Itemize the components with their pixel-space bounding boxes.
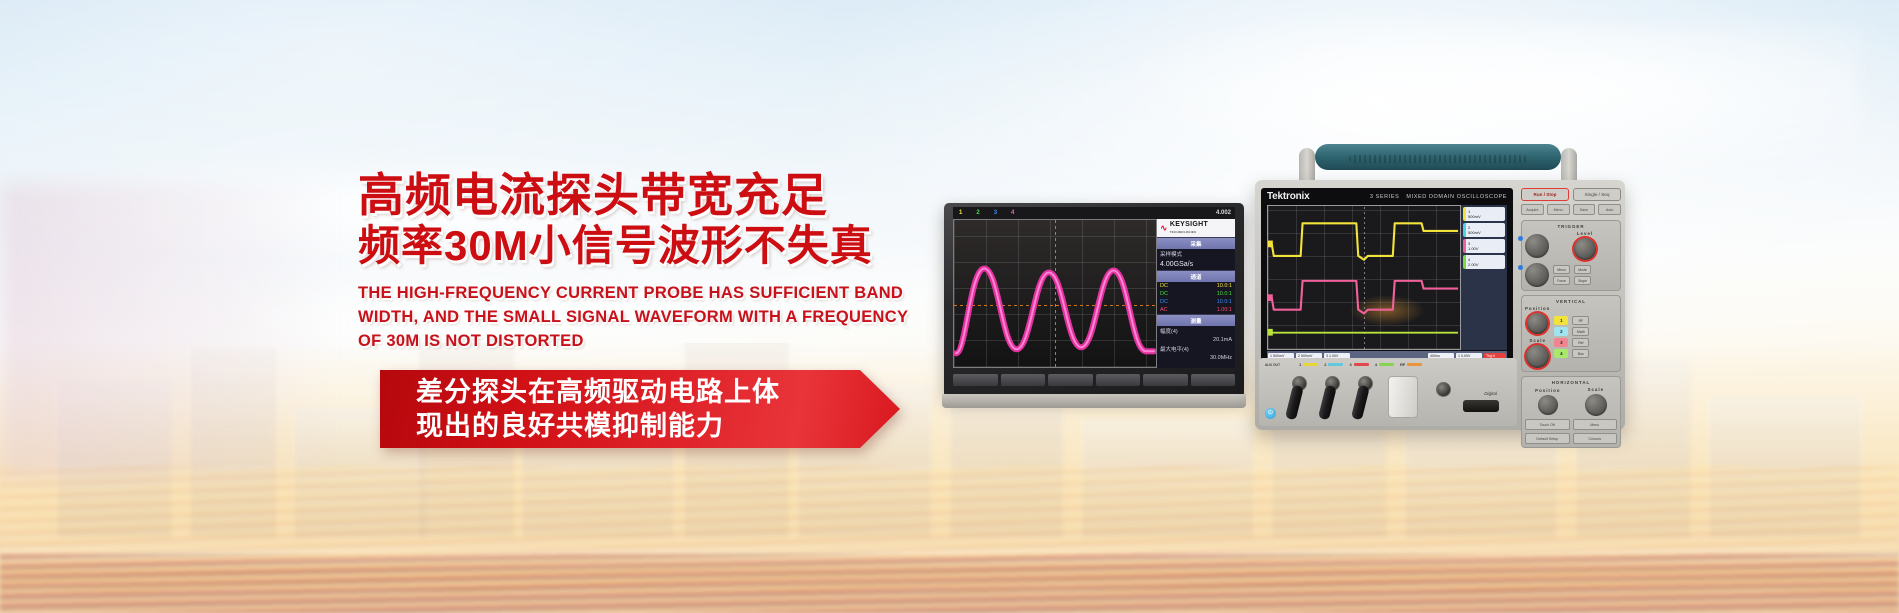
touch-off-button[interactable]: Touch Off (1525, 419, 1570, 430)
keysight-channel-header: 通道 (1157, 270, 1235, 282)
keysight-frequency-row: 30.0MHz (1157, 354, 1235, 362)
headline-line-2: 频率30M小信号波形不失真 (358, 225, 978, 268)
vertical-position-label: Position (1525, 306, 1550, 311)
trigger-button-row: Menu Force Mode Slope (1525, 263, 1617, 287)
save-button[interactable]: Save (1573, 204, 1596, 215)
keysight-measure-row: 20.1mA (1157, 336, 1235, 344)
attached-probe-body (1388, 376, 1418, 418)
trigger-panel-row: Level (1525, 231, 1617, 260)
menu-button[interactable]: Menu (1547, 204, 1570, 215)
vertical-panel-row: Position Scale 1 2 3 4 RF (1525, 306, 1617, 368)
keysight-channel-row: DC 10.0:1 (1157, 298, 1235, 306)
acquire-button[interactable]: Acquire (1521, 204, 1544, 215)
connector-label-rf: RF (1400, 362, 1422, 367)
trigger-aux-buttons: Menu Force (1553, 265, 1570, 285)
aux-button-column: RF Math Ref Bus (1572, 316, 1589, 358)
keysight-channel-row: DC 10.0:1 (1157, 282, 1235, 290)
channel-4-button[interactable]: 4 (1554, 349, 1568, 358)
keysight-channel-2-label: 2 (976, 210, 979, 216)
trigger-level-label: Level (1553, 231, 1617, 236)
channel-1-color-bar (1303, 363, 1318, 366)
connector-label-1: 1 (1299, 362, 1318, 367)
conn-3-text: 3 (1349, 362, 1351, 367)
tektronix-oscilloscope: Tektronix 3 SERIES MIXED DOMAIN OSCILLOS… (1255, 140, 1625, 430)
tektronix-waveform-grid (1267, 205, 1461, 350)
vertical-scale-knob[interactable] (1526, 345, 1549, 368)
tektronix-chassis: Tektronix 3 SERIES MIXED DOMAIN OSCILLOS… (1255, 180, 1625, 430)
keysight-waveform-grid (953, 219, 1157, 368)
keysight-acquire-header: 采集 (1157, 237, 1235, 249)
ribbon-line-2: 现出的良好共模抑制能力 (416, 409, 900, 443)
ribbon-text-block: 差分探头在高频驱动电路上体 现出的良好共模抑制能力 (380, 370, 900, 448)
horizontal-panel-title: HORIZONTAL (1525, 380, 1617, 385)
horizontal-position-label: Position (1535, 388, 1560, 393)
probe-cable-2 (1318, 385, 1337, 421)
keysight-top-value: 4.002 (1216, 210, 1235, 216)
tektronix-series: 3 SERIES (1370, 194, 1400, 200)
connector-label-4: 4 (1375, 362, 1394, 367)
tektronix-model-text: 3 SERIES MIXED DOMAIN OSCILLOSCOPE (1370, 194, 1507, 200)
keysight-ch3-ratio: 10.0:1 (1217, 299, 1232, 305)
tektronix-side-button[interactable]: 4 2.00V (1463, 255, 1505, 269)
keysight-ch1-coupling: DC (1160, 283, 1168, 289)
keysight-oscilloscope: 1 2 3 4 4.002 ∿ KEYSIGHT TECHNO (944, 203, 1244, 398)
keysight-ch4-coupling: AC (1160, 307, 1168, 313)
keysight-logo-subtext: TECHNOLOGIES (1170, 230, 1196, 234)
side-btn-1-l2: 500mV (1468, 214, 1505, 219)
blue-indicator-dot (1518, 265, 1523, 270)
tektronix-control-panel: Run / Stop Single / Seq Acquire Menu Sav… (1521, 188, 1621, 424)
keysight-channel-row: DC 10.0:1 (1157, 290, 1235, 298)
keysight-ch4-ratio: 1.00:1 (1217, 307, 1232, 313)
keysight-channel-4-label: 4 (1011, 210, 1014, 216)
keysight-channel-row: AC 1.00:1 (1157, 306, 1235, 314)
keysight-softkey[interactable] (1191, 374, 1236, 386)
trigger-aux-knob[interactable] (1525, 234, 1549, 258)
keysight-acq-mode-row: 采样模式 (1157, 249, 1235, 259)
keysight-measure-row: 幅度(4) (1157, 326, 1235, 336)
trigger-level-knob[interactable] (1574, 238, 1596, 260)
promo-banner: 高频电流探头带宽充足 频率30M小信号波形不失真 THE HIGH-FREQUE… (0, 0, 1899, 613)
light-streaks-lower (0, 554, 1899, 613)
ribbon-line-1: 差分探头在高频驱动电路上体 (416, 375, 900, 409)
bus-button[interactable]: Bus (1572, 349, 1589, 358)
keysight-softkey-row (953, 370, 1235, 390)
keysight-measure-row: 最大电平(4) (1157, 344, 1235, 354)
horizontal-lower-row-1: Touch Off Menu (1525, 419, 1617, 430)
keysight-ch2-ratio: 10.0:1 (1217, 291, 1232, 297)
horizontal-scale-label: Scale (1585, 387, 1607, 392)
side-btn-4-l2: 2.00V (1468, 262, 1505, 267)
tektronix-logo: Tektronix (1267, 191, 1309, 202)
tektronix-square-waveforms (1268, 206, 1460, 350)
blue-indicator-dot (1518, 236, 1523, 241)
subtitle-line-2: WIDTH, AND THE SMALL SIGNAL WAVEFORM WIT… (358, 306, 918, 330)
channel-2-button[interactable]: 2 (1554, 327, 1568, 336)
tektronix-side-button[interactable]: 2 500mV (1463, 223, 1505, 237)
horizontal-position-knob[interactable] (1538, 395, 1558, 415)
trigger-panel-title: TRIGGER (1525, 224, 1617, 229)
probe-cable-3 (1351, 385, 1370, 421)
keysight-acq-mode-label: 采样模式 (1160, 250, 1182, 258)
keysight-logo-mark: ∿ (1160, 224, 1168, 233)
keysight-sine-waveform (954, 220, 1156, 368)
horizontal-scale-knob[interactable] (1585, 394, 1607, 416)
channel-button-column: 1 2 3 4 (1554, 316, 1568, 358)
vertical-panel-title: VERTICAL (1525, 299, 1617, 304)
cursors-button[interactable]: Cursors (1573, 433, 1618, 444)
default-setup-button[interactable]: Default Setup (1525, 433, 1570, 444)
trigger-menu-button[interactable]: Menu (1553, 265, 1570, 274)
vertical-panel: VERTICAL Position Scale 1 2 3 4 (1521, 295, 1621, 372)
keysight-stand-foot (942, 394, 1246, 408)
keysight-logo-text: KEYSIGHT (1170, 221, 1208, 228)
keysight-logo: ∿ KEYSIGHT TECHNOLOGIES (1157, 219, 1235, 237)
digital-port-label: Digital (1484, 391, 1497, 396)
subtitle-line-3: OF 30M IS NOT DISTORTED (358, 330, 918, 354)
trigger-mode-buttons: Mode Slope (1574, 265, 1591, 285)
trigger-force-button[interactable]: Force (1553, 276, 1570, 285)
math-button[interactable]: Math (1572, 327, 1589, 336)
channel-3-color-bar (1354, 363, 1369, 366)
headline-copy-block: 高频电流探头带宽充足 频率30M小信号波形不失真 THE HIGH-FREQUE… (358, 172, 978, 354)
tektronix-mini-row-1: Acquire Menu Save Auto (1521, 204, 1621, 215)
keysight-ch3-coupling: DC (1160, 299, 1168, 305)
tektronix-side-button[interactable]: 1 500mV (1463, 207, 1505, 221)
keysight-meas-1-label: 幅度(4) (1160, 327, 1178, 335)
subtitle-line-1: THE HIGH-FREQUENCY CURRENT PROBE HAS SUF… (358, 282, 918, 306)
tektronix-model: MIXED DOMAIN OSCILLOSCOPE (1406, 194, 1507, 200)
keysight-top-status-bar: 1 2 3 4 4.002 (953, 207, 1235, 219)
keysight-measure-header: 测量 (1157, 314, 1235, 326)
probe-cable-1 (1285, 385, 1304, 421)
horizontal-panel: HORIZONTAL Position Scale Touch Off (1521, 376, 1621, 448)
left-color-fade (0, 184, 342, 478)
single-seq-button[interactable]: Single / Seq (1573, 188, 1621, 201)
bnc-connector-row (1289, 374, 1455, 420)
channel-1-button[interactable]: 1 (1554, 316, 1568, 325)
conn-2-text: 2 (1324, 362, 1326, 367)
headline-line-1: 高频电流探头带宽充足 (358, 172, 978, 219)
connector-label-row: AUX OUT 1 2 3 4 RF (1265, 361, 1511, 368)
keysight-softkey[interactable] (1001, 374, 1046, 386)
horizontal-lower-row-2: Default Setup Cursors (1525, 433, 1617, 444)
side-btn-2-l2: 500mV (1468, 230, 1505, 235)
tektronix-screen-brand-bar: Tektronix 3 SERIES MIXED DOMAIN OSCILLOS… (1261, 188, 1513, 205)
keysight-screen: ∿ KEYSIGHT TECHNOLOGIES 采集 采样模式 4.00GSa/… (953, 219, 1235, 368)
run-stop-button[interactable]: Run / Stop (1521, 188, 1569, 201)
keysight-frequency-value: 30.0MHz (1210, 355, 1232, 361)
feature-ribbon: 差分探头在高频驱动电路上体 现出的良好共模抑制能力 (380, 370, 900, 448)
digital-port[interactable] (1463, 400, 1499, 412)
conn-4-text: 4 (1375, 362, 1377, 367)
auto-button[interactable]: Auto (1598, 204, 1621, 215)
channel-3-button[interactable]: 3 (1554, 338, 1568, 347)
connector-label-3: 3 (1349, 362, 1368, 367)
connector-label-2: 2 (1324, 362, 1343, 367)
keysight-meas-2-label: 最大电平(4) (1160, 345, 1189, 353)
vertical-position-knob[interactable] (1527, 313, 1548, 334)
tektronix-screen[interactable]: Tektronix 3 SERIES MIXED DOMAIN OSCILLOS… (1261, 188, 1513, 372)
keysight-channel-1-label: 1 (959, 210, 962, 216)
conn-rf-text: RF (1400, 362, 1405, 367)
keysight-side-menu: ∿ KEYSIGHT TECHNOLOGIES 采集 采样模式 4.00GSa/… (1157, 219, 1235, 368)
subtitle-block: THE HIGH-FREQUENCY CURRENT PROBE HAS SUF… (358, 282, 918, 354)
keysight-softkey[interactable] (1096, 374, 1141, 386)
horizontal-menu-button[interactable]: Menu (1573, 419, 1618, 430)
rf-n-connector[interactable] (1436, 382, 1451, 397)
tektronix-connector-panel: AUX OUT 1 2 3 4 RF ⏻ (1259, 358, 1517, 426)
handle-grip (1315, 144, 1561, 170)
conn-1-text: 1 (1299, 362, 1301, 367)
aux-out-label: AUX OUT (1265, 363, 1293, 367)
tektronix-run-row: Run / Stop Single / Seq (1521, 188, 1621, 201)
rf-color-bar (1407, 363, 1422, 366)
vertical-scale-label: Scale (1525, 338, 1550, 343)
channel-4-color-bar (1379, 363, 1394, 366)
side-btn-3-l2: 1.00V (1468, 246, 1505, 251)
keysight-softkey[interactable] (953, 374, 998, 386)
trigger-position-knob[interactable] (1525, 263, 1549, 287)
trigger-panel: TRIGGER Level (1521, 220, 1621, 291)
tektronix-side-button[interactable]: 3 1.00V (1463, 239, 1505, 253)
channel-2-color-bar (1328, 363, 1343, 366)
keysight-meas-1-value: 20.1mA (1213, 337, 1232, 343)
keysight-channel-3-label: 3 (994, 210, 997, 216)
power-button[interactable]: ⏻ (1265, 408, 1276, 419)
ref-button[interactable]: Ref (1572, 338, 1589, 347)
keysight-ch1-ratio: 10.0:1 (1217, 283, 1232, 289)
trigger-slope-button[interactable]: Slope (1574, 276, 1591, 285)
tektronix-side-menu: 1 500mV 2 500mV 3 1.00V 4 (1461, 205, 1507, 350)
trigger-mode-button[interactable]: Mode (1574, 265, 1591, 274)
keysight-softkey[interactable] (1143, 374, 1188, 386)
horizontal-panel-row: Position Scale (1525, 387, 1617, 416)
rf-button[interactable]: RF (1572, 316, 1589, 325)
tektronix-display-area: 1 500mV 2 500mV 3 1.00V 4 (1267, 205, 1507, 350)
keysight-acq-rate: 4.00GSa/s (1157, 259, 1235, 270)
keysight-ch2-coupling: DC (1160, 291, 1168, 297)
keysight-softkey[interactable] (1048, 374, 1093, 386)
